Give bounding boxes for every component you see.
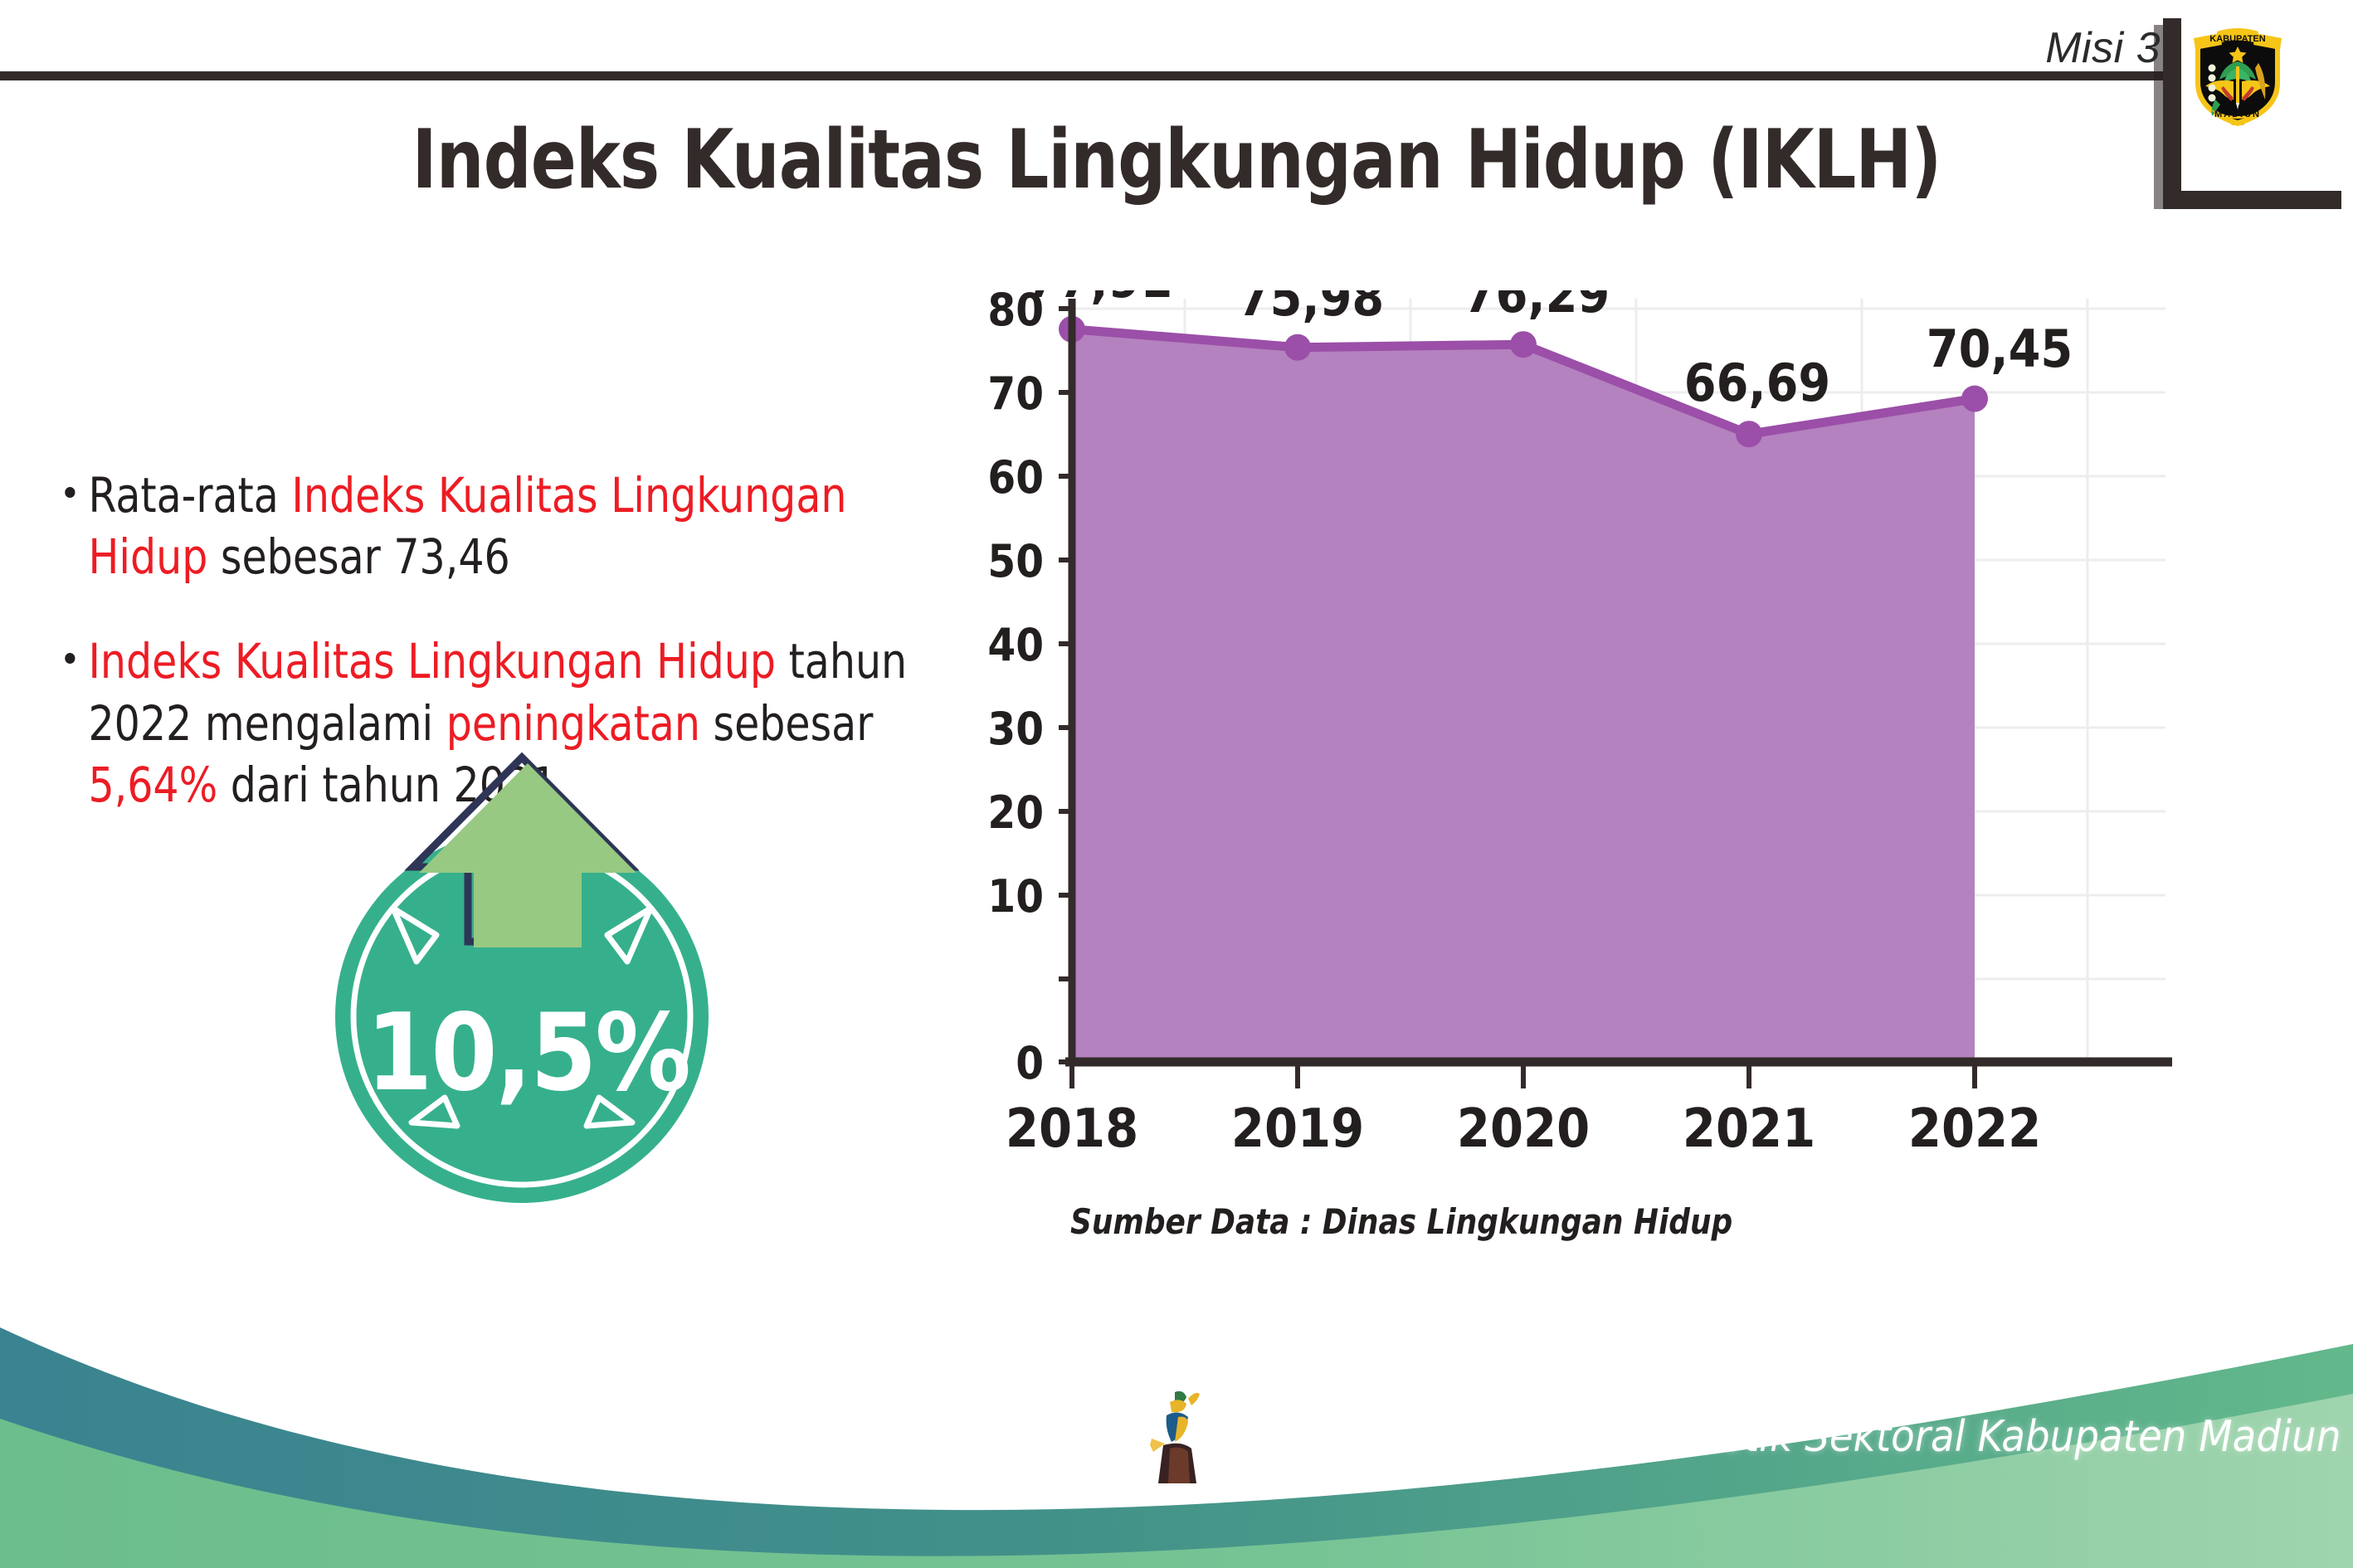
x-tick-label: 2019 <box>1231 1098 1364 1160</box>
bullet-dot-icon <box>65 653 75 664</box>
y-tick-label: 0 <box>1016 1037 1044 1089</box>
badge-value: 10,5% <box>320 991 735 1115</box>
increase-badge: 10,5% <box>320 751 735 1215</box>
y-tick-label: 60 <box>987 451 1044 504</box>
bullet-segment: sebesar <box>700 695 873 752</box>
header-divider-line <box>0 71 2171 80</box>
data-label: 66,69 <box>1684 353 1830 413</box>
data-label: 70,45 <box>1927 319 2073 379</box>
mission-label: Misi 3 <box>2045 23 2161 73</box>
x-tick-label: 2022 <box>1908 1098 2041 1160</box>
page-title: Indeks Kualitas Lingkungan Hidup (IKLH) <box>94 113 2258 207</box>
bullet-segment-highlight: peningkatan <box>446 695 700 752</box>
x-tick-label: 2020 <box>1457 1098 1590 1160</box>
bullet-segment: sebesar 73,46 <box>207 528 509 585</box>
data-label: 75,98 <box>1238 290 1384 328</box>
bullet-segment-highlight: 5,64% <box>88 757 217 813</box>
dancer-icon <box>1145 1387 1211 1487</box>
x-tick-label: 2018 <box>1006 1098 1138 1160</box>
data-label: 77,91 <box>1026 290 1172 309</box>
bullet-dot-icon <box>65 487 75 498</box>
bullet-segment: Rata-rata <box>88 467 291 523</box>
y-tick-label: 50 <box>987 535 1044 587</box>
chart-area-fill <box>1072 329 1975 1062</box>
footer-caption: Media Infografis Data Statistik Sektoral… <box>1205 1412 2353 1462</box>
y-tick-label: 30 <box>987 703 1044 755</box>
iklh-area-chart: 80 70 60 50 40 30 20 10 0 2018 2019 2020… <box>979 290 2174 1170</box>
bullet-segment-highlight: Indeks Kualitas Lingkungan Hidup <box>88 633 776 689</box>
source-note: Sumber Data : Dinas Lingkungan Hidup <box>1070 1201 1732 1242</box>
data-label: 76,29 <box>1464 290 1610 324</box>
svg-text:KABUPATEN: KABUPATEN <box>2209 34 2265 44</box>
bullet-text-1: Rata-rata Indeks Kualitas Lingkungan Hid… <box>68 465 942 587</box>
y-tick-label: 70 <box>987 368 1044 420</box>
y-tick-label: 10 <box>987 870 1044 923</box>
x-tick-label: 2021 <box>1683 1098 1815 1160</box>
infographic-slide: Misi 3 KABUPATEN MADIUN <box>0 0 2353 1568</box>
list-item: Rata-rata Indeks Kualitas Lingkungan Hid… <box>68 465 942 587</box>
y-tick-label: 40 <box>987 619 1044 671</box>
y-tick-label: 20 <box>987 786 1044 839</box>
